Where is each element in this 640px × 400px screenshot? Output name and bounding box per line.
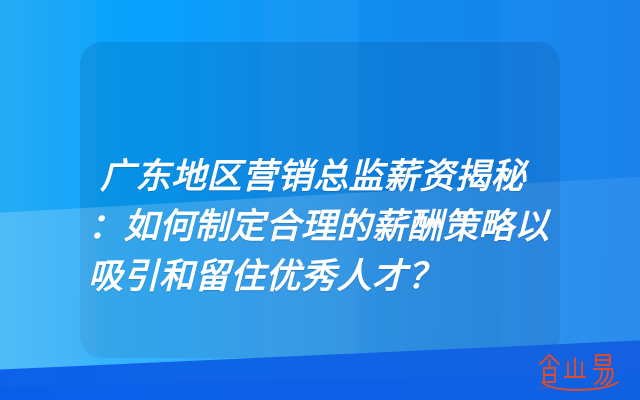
banner-title-line-1: 广东地区营销总监薪资揭秘	[88, 152, 558, 202]
banner-title-line-2: ：如何制定合理的薪酬策略以	[88, 202, 558, 252]
brand-logo-subtext: QIYEYI	[538, 386, 550, 390]
brand-logo[interactable]: QIYEYI	[532, 344, 628, 394]
banner-title-line-3: 吸引和留住优秀人才？	[88, 252, 558, 302]
article-cover-banner: 广东地区营销总监薪资揭秘 ：如何制定合理的薪酬策略以 吸引和留住优秀人才？ QI…	[0, 0, 640, 400]
banner-title: 广东地区营销总监薪资揭秘 ：如何制定合理的薪酬策略以 吸引和留住优秀人才？	[88, 152, 558, 302]
